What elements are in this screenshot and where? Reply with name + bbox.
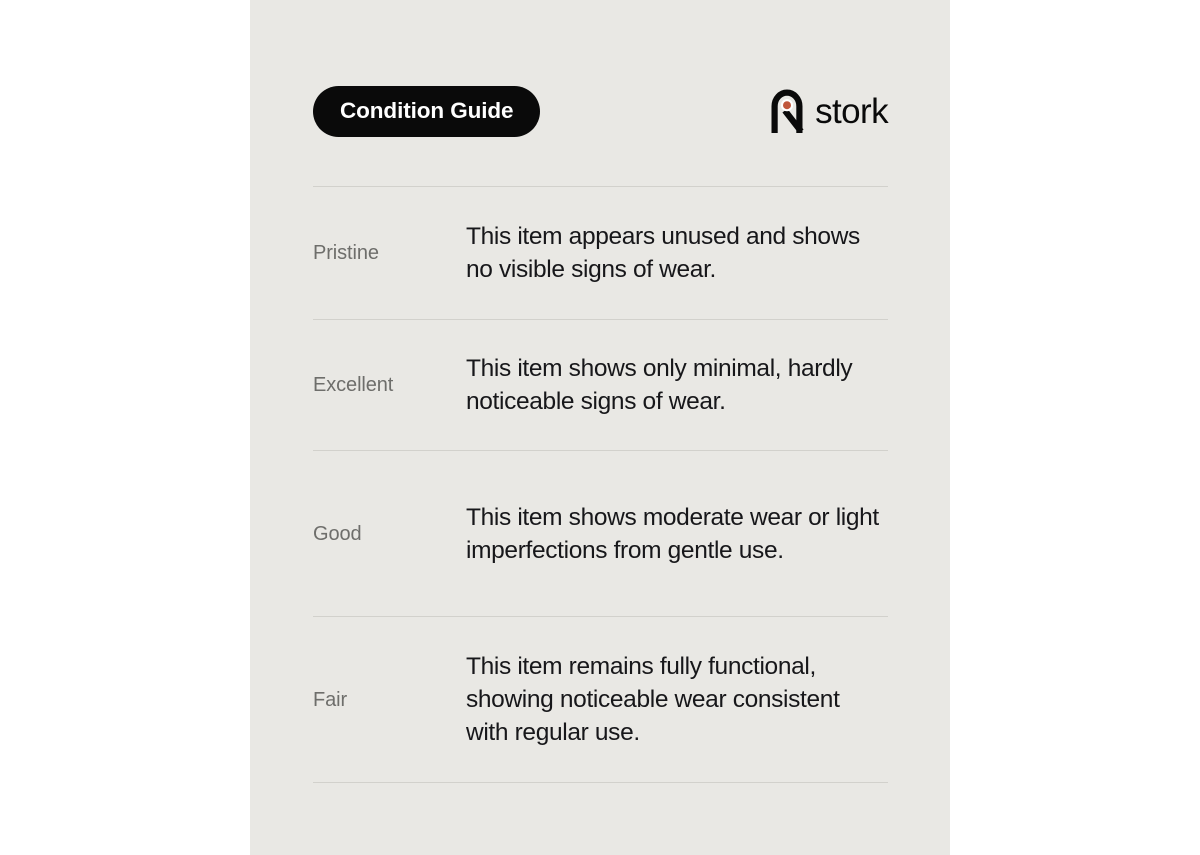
table-row: Excellent This item shows only minimal, …	[313, 320, 888, 450]
condition-guide-badge: Condition Guide	[313, 86, 540, 137]
condition-label: Pristine	[313, 241, 466, 265]
brand-wordmark: stork	[815, 94, 888, 129]
table-divider-bottom	[313, 782, 888, 783]
condition-description: This item shows moderate wear or light i…	[466, 501, 881, 567]
condition-description: This item appears unused and shows no vi…	[466, 220, 881, 286]
condition-label: Excellent	[313, 373, 466, 397]
page-root: Condition Guide stork	[0, 0, 1200, 855]
stork-arch-logo-icon	[770, 89, 804, 133]
condition-description: This item remains fully functional, show…	[466, 650, 881, 749]
brand-lockup: stork	[770, 86, 888, 137]
table-row: Fair This item remains fully functional,…	[313, 617, 888, 782]
table-row: Good This item shows moderate wear or li…	[313, 451, 888, 616]
table-row: Pristine This item appears unused and sh…	[313, 187, 888, 319]
condition-guide-table: Pristine This item appears unused and sh…	[313, 186, 888, 783]
condition-description: This item shows only minimal, hardly not…	[466, 352, 881, 418]
condition-label: Fair	[313, 688, 466, 712]
condition-label: Good	[313, 522, 466, 546]
condition-guide-card: Condition Guide stork	[250, 0, 950, 855]
card-header: Condition Guide stork	[313, 85, 888, 137]
